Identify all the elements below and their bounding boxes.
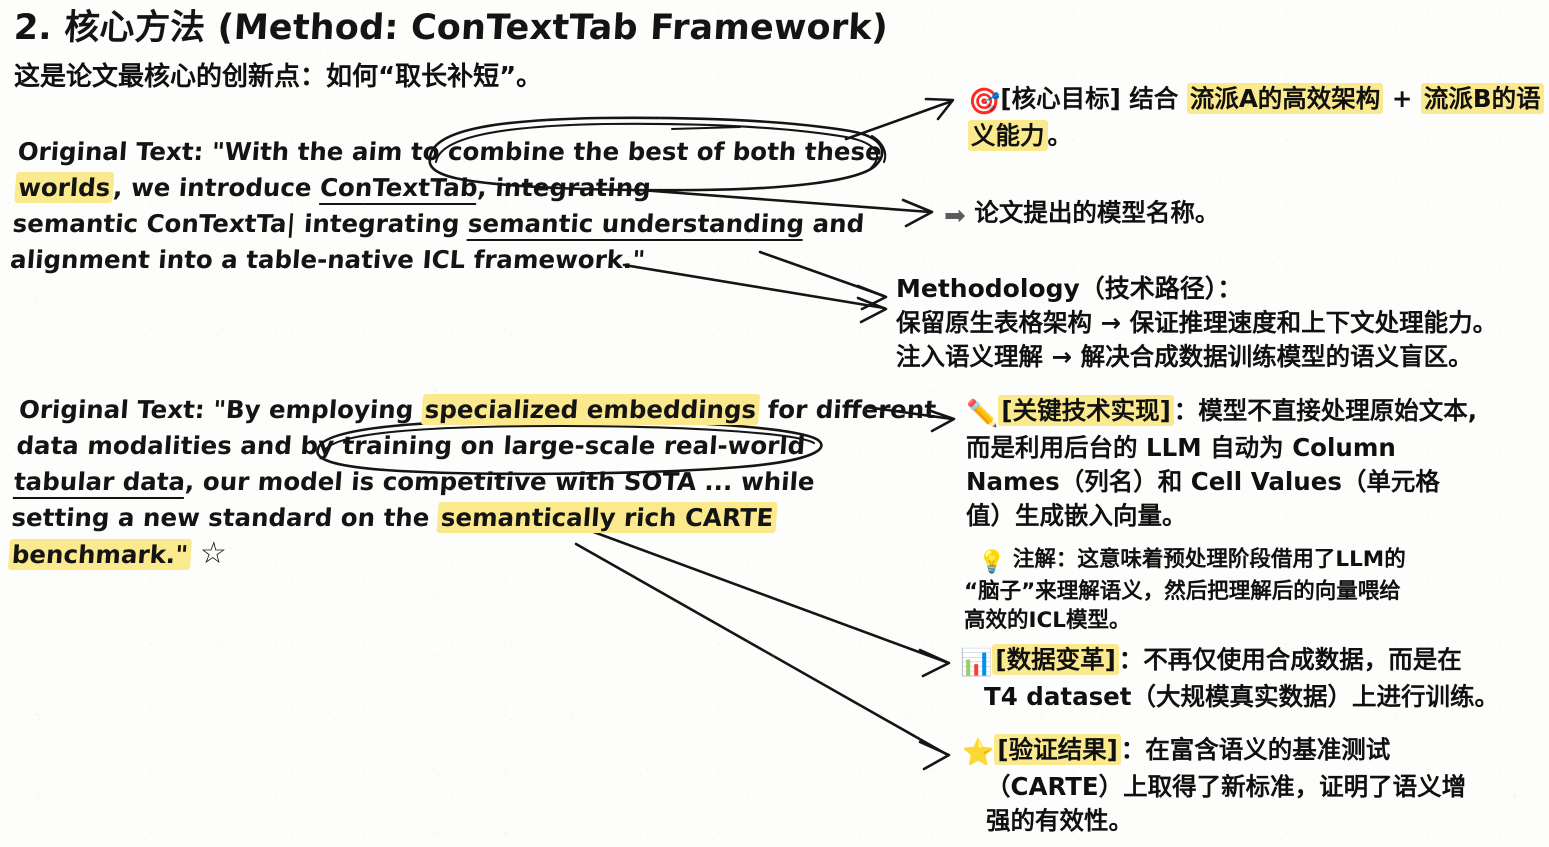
orig2-line4-a: setting a new standard on the bbox=[11, 503, 439, 532]
note-tech-line-2: 而是利用后台的 LLM 自动为 Column bbox=[966, 431, 1546, 465]
outline-star-icon: ☆ bbox=[198, 536, 227, 571]
note-goal-tag: [核心目标] bbox=[1000, 84, 1120, 113]
note-method-heading: Methodology（技术路径）： bbox=[896, 272, 1546, 306]
note-data-text-1: ：不再仅使用合成数据，而是在 bbox=[1119, 645, 1462, 674]
orig1-line-1: Original Text: "With the aim to combine … bbox=[17, 134, 884, 170]
arrow-to-goal-note bbox=[846, 99, 953, 139]
note-result-text-1: ：在富含语义的基准测试 bbox=[1121, 735, 1391, 764]
note-goal-text-a: 结合 bbox=[1121, 84, 1187, 113]
orig2-line3-tail: , our model is competitive with SOTA ...… bbox=[184, 467, 816, 496]
note-tech-tag: [关键技术实现] bbox=[998, 395, 1173, 426]
star-icon: ⭐ bbox=[962, 738, 994, 768]
note-bulb-line-1: 💡 注解：这意味着预处理阶段借用了LLM的 bbox=[978, 545, 1546, 577]
note-bulb-line-2: “脑子”来理解语义，然后把理解后的向量喂给 bbox=[964, 577, 1546, 606]
dart-target-icon: 🎯 bbox=[968, 87, 1000, 117]
note-result-line-2: （CARTE）上取得了新标准，证明了语义增 bbox=[986, 770, 1546, 804]
orig2-line1-tail: for different bbox=[758, 395, 937, 424]
orig1-line2-tail: , integrating bbox=[477, 173, 652, 202]
orig1-line-3: semantic ConTextTa| integrating semantic… bbox=[11, 206, 878, 242]
orig1-line2-rest: , we introduce bbox=[112, 173, 321, 202]
note-data-tag: [数据变革] bbox=[992, 644, 1118, 675]
note-key-tech: ✏️[关键技术实现]：模型不直接处理原始文本, 而是利用后台的 LLM 自动为 … bbox=[966, 394, 1546, 533]
orig2-highlight-benchmark: benchmark." bbox=[8, 539, 192, 570]
note-core-goal: 🎯[核心目标] 结合 流派A的高效架构 + 流派B的语义能力。 bbox=[968, 82, 1546, 153]
note-annotation-bulb: 💡 注解：这意味着预处理阶段借用了LLM的 “脑子”来理解语义，然后把理解后的向… bbox=[978, 545, 1546, 635]
note-goal-tail: 。 bbox=[1048, 121, 1073, 150]
page-title: 2. 核心方法 (Method: ConTextTab Framework) bbox=[13, 6, 889, 50]
orig1-label: Original Text: "With the aim to bbox=[17, 137, 449, 166]
note-validation-result: ⭐[验证结果]：在富含语义的基准测试 （CARTE）上取得了新标准，证明了语义增… bbox=[962, 733, 1546, 838]
orig1-line-4: alignment into a table-native ICL framew… bbox=[9, 242, 876, 278]
orig1-highlight-worlds: worlds bbox=[14, 172, 114, 203]
note-model-name: ➡ 论文提出的模型名称。 bbox=[944, 196, 1534, 233]
pencil-icon: ✏️ bbox=[966, 399, 998, 429]
note-tech-line-3: Names（列名）和 Cell Values（单元格 bbox=[966, 465, 1546, 499]
orig2-line-1: Original Text: "By employing specialized… bbox=[18, 392, 937, 428]
note-result-line-3: 强的有效性。 bbox=[986, 804, 1546, 838]
note-result-line-1: ⭐[验证结果]：在富含语义的基准测试 bbox=[962, 733, 1546, 770]
page-subtitle: 这是论文最核心的创新点：如何“取长补短”。 bbox=[14, 60, 542, 94]
note-methodology: Methodology（技术路径）： 保留原生表格架构 → 保证推理速度和上下文… bbox=[896, 272, 1546, 374]
orig1-underline-semantic: semantic understanding bbox=[467, 209, 805, 241]
note-tech-text-1: ：模型不直接处理原始文本, bbox=[1174, 396, 1477, 425]
orig2-highlight-embeddings: specialized embeddings bbox=[421, 394, 760, 425]
note-data-line-1: 📊[数据变革]：不再仅使用合成数据，而是在 bbox=[960, 643, 1546, 680]
orig1-line3-tail: and bbox=[803, 209, 865, 238]
lightbulb-icon: 💡 bbox=[978, 550, 1005, 575]
arrow-to-result-note bbox=[576, 544, 949, 769]
orig1-line3-a: semantic ConTextTa| integrating bbox=[12, 209, 469, 238]
ink-stroke-overline bbox=[672, 127, 740, 129]
note-data-revolution: 📊[数据变革]：不再仅使用合成数据，而是在 T4 dataset（大规模真实数据… bbox=[960, 643, 1546, 714]
orig2-label: Original Text: "By employing bbox=[18, 395, 423, 424]
note-tech-line-1: ✏️[关键技术实现]：模型不直接处理原始文本, bbox=[966, 394, 1546, 431]
orig2-line2-a: data modalities and by bbox=[16, 431, 344, 460]
annotated-notes-page: 2. 核心方法 (Method: ConTextTab Framework) 这… bbox=[0, 0, 1549, 847]
note-result-tag: [验证结果] bbox=[994, 734, 1120, 765]
note-data-line-2: T4 dataset（大规模真实数据）上进行训练。 bbox=[984, 680, 1546, 714]
note-bulb-text-1: 注解：这意味着预处理阶段借用了LLM的 bbox=[1013, 547, 1406, 572]
orig2-line-3: tabular data, our model is competitive w… bbox=[13, 464, 932, 500]
orig1-underline-contexttab: ConTextTab bbox=[319, 173, 479, 205]
orig2-line-2: data modalities and by training on large… bbox=[15, 428, 934, 464]
orig2-line-4: setting a new standard on the semantical… bbox=[10, 500, 929, 536]
orig2-circled-phrase: training on large-scale real-world bbox=[342, 431, 807, 460]
orig1-line4: alignment into a table-native ICL framew… bbox=[9, 245, 646, 274]
orig2-line-5: benchmark." ☆ bbox=[8, 536, 928, 573]
note-bulb-line-3: 高效的ICL模型。 bbox=[964, 606, 1546, 635]
original-text-block-2: Original Text: "By employing specialized… bbox=[8, 392, 938, 573]
note-tech-line-4: 值）生成嵌入向量。 bbox=[966, 499, 1546, 533]
right-arrow-icon: ➡ bbox=[944, 201, 966, 231]
note-method-line-1: 保留原生表格架构 → 保证推理速度和上下文处理能力。 bbox=[896, 306, 1546, 340]
orig2-highlight-carte: semantically rich CARTE bbox=[437, 502, 777, 533]
note-goal-highlight-a: 流派A的高效架构 bbox=[1187, 83, 1383, 114]
orig1-circled-phrase: combine the best of both these bbox=[447, 137, 883, 166]
orig1-line-2: worlds, we introduce ConTextTab, integra… bbox=[14, 170, 881, 206]
orig2-underline-tabular: tabular data bbox=[13, 467, 186, 499]
original-text-block-1: Original Text: "With the aim to combine … bbox=[9, 134, 883, 278]
note-model-text: 论文提出的模型名称。 bbox=[974, 198, 1219, 227]
note-method-line-2: 注入语义理解 → 解决合成数据训练模型的语义盲区。 bbox=[896, 340, 1546, 374]
bar-chart-icon: 📊 bbox=[960, 648, 992, 678]
note-goal-plus: + bbox=[1383, 84, 1421, 113]
